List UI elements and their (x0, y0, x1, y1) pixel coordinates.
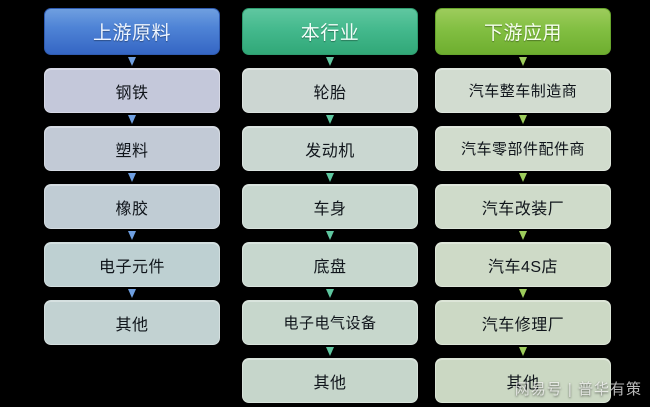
arrow-down-icon (517, 115, 529, 127)
node-label: 塑料 (115, 137, 148, 161)
node-upstream-2[interactable]: 橡胶 (44, 184, 220, 229)
node-label: 其他 (313, 369, 346, 393)
node-label: 汽车修理厂 (482, 311, 565, 335)
node-downstream-1[interactable]: 汽车零部件配件商 (435, 126, 611, 171)
node-downstream-3[interactable]: 汽车4S店 (435, 242, 611, 287)
node-label: 电子电气设备 (283, 312, 376, 333)
node-label: 电子元件 (99, 253, 165, 277)
node-industry-3[interactable]: 底盘 (242, 242, 418, 287)
industry-chain-diagram: 上游原料钢铁塑料橡胶电子元件其他本行业轮胎发动机车身底盘电子电气设备其他下游应用… (0, 0, 650, 407)
column-header-industry[interactable]: 本行业 (242, 8, 418, 55)
node-label: 汽车改装厂 (482, 195, 565, 219)
node-label: 底盘 (313, 253, 346, 277)
column-header-downstream[interactable]: 下游应用 (435, 8, 611, 55)
node-upstream-1[interactable]: 塑料 (44, 126, 220, 171)
arrow-down-icon (517, 347, 529, 359)
arrow-down-icon (126, 231, 138, 243)
node-label: 轮胎 (313, 79, 346, 103)
node-label: 汽车整车制造商 (469, 80, 578, 101)
arrow-down-icon (517, 289, 529, 301)
node-industry-1[interactable]: 发动机 (242, 126, 418, 171)
column-downstream: 下游应用汽车整车制造商汽车零部件配件商汽车改装厂汽车4S店汽车修理厂其他 (435, 0, 611, 407)
column-industry: 本行业轮胎发动机车身底盘电子电气设备其他 (242, 0, 418, 407)
node-upstream-4[interactable]: 其他 (44, 300, 220, 345)
node-label: 橡胶 (115, 195, 148, 219)
node-label: 钢铁 (115, 79, 148, 103)
column-header-upstream[interactable]: 上游原料 (44, 8, 220, 55)
arrow-down-icon (126, 57, 138, 69)
node-industry-4[interactable]: 电子电气设备 (242, 300, 418, 345)
column-upstream: 上游原料钢铁塑料橡胶电子元件其他 (44, 0, 220, 407)
arrow-down-icon (324, 289, 336, 301)
node-downstream-0[interactable]: 汽车整车制造商 (435, 68, 611, 113)
node-downstream-2[interactable]: 汽车改装厂 (435, 184, 611, 229)
arrow-down-icon (517, 231, 529, 243)
column-header-label: 本行业 (301, 18, 360, 45)
node-downstream-5[interactable]: 其他 (435, 358, 611, 403)
node-industry-2[interactable]: 车身 (242, 184, 418, 229)
arrow-down-icon (324, 173, 336, 185)
arrow-down-icon (126, 289, 138, 301)
column-header-label: 上游原料 (93, 18, 171, 45)
arrow-down-icon (517, 173, 529, 185)
node-label: 车身 (313, 195, 346, 219)
column-header-label: 下游应用 (484, 18, 562, 45)
arrow-down-icon (126, 115, 138, 127)
node-downstream-4[interactable]: 汽车修理厂 (435, 300, 611, 345)
arrow-down-icon (126, 173, 138, 185)
node-label: 汽车4S店 (488, 253, 558, 277)
node-industry-0[interactable]: 轮胎 (242, 68, 418, 113)
arrow-down-icon (517, 57, 529, 69)
arrow-down-icon (324, 347, 336, 359)
node-label: 发动机 (305, 137, 355, 161)
node-label: 其他 (115, 311, 148, 335)
node-upstream-3[interactable]: 电子元件 (44, 242, 220, 287)
arrow-down-icon (324, 231, 336, 243)
node-upstream-0[interactable]: 钢铁 (44, 68, 220, 113)
node-label: 其他 (506, 369, 539, 393)
arrow-down-icon (324, 115, 336, 127)
node-label: 汽车零部件配件商 (461, 138, 585, 159)
arrow-down-icon (324, 57, 336, 69)
node-industry-5[interactable]: 其他 (242, 358, 418, 403)
